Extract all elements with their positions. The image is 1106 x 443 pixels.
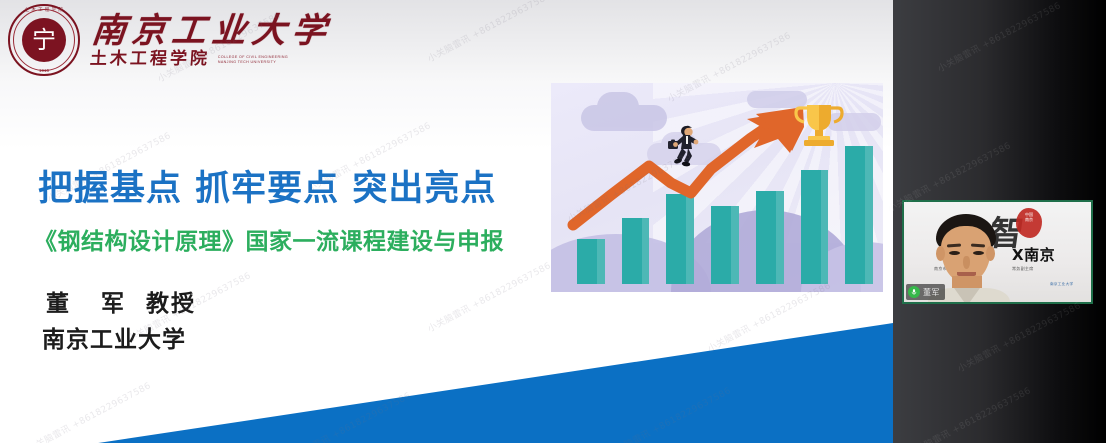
logo-college-name: 土木工程学院 (89, 51, 210, 68)
logo-university-name: 南京工业大学 (90, 14, 334, 50)
participant-video-tile[interactable]: 智 中国 南京 X南京 南京市科协 常务副主席 南京工业大学 (902, 200, 1093, 304)
participant-name-label: 董军 (923, 287, 940, 298)
slide-headline: 把握基点 抓牢要点 突出亮点 (38, 160, 496, 211)
backdrop-brand-text: 南京工业大学 (1050, 282, 1073, 287)
avatar-ear-right (986, 246, 995, 261)
screen-share-stage: 土 木 工 程 学 院 宁 1915 南京工业大学 土木工程学院 COLLEGE… (0, 0, 1106, 443)
avatar-nose (963, 256, 970, 269)
slide-subheadline: 《钢结构设计原理》国家一流课程建设与申报 (34, 222, 504, 256)
seal-glyph-text: 宁 (22, 18, 66, 62)
seal-arc-top-text: 土 木 工 程 学 院 (8, 7, 80, 13)
slide-presenter-org: 南京工业大学 (42, 320, 186, 354)
growth-chart-illustration (551, 83, 883, 292)
businessman-running-icon (659, 125, 703, 169)
backdrop-caption-right: 常务副主席 (1012, 266, 1034, 272)
presentation-slide: 土 木 工 程 学 院 宁 1915 南京工业大学 土木工程学院 COLLEGE… (0, 0, 893, 443)
microphone-icon[interactable] (908, 286, 920, 298)
participant-name-chip: 董军 (906, 284, 945, 300)
gold-trophy-icon (791, 101, 847, 151)
logo-wordmark: 南京工业大学 土木工程学院 COLLEGE OF CIVIL ENGINEERI… (90, 12, 330, 68)
logo-subrow: 土木工程学院 COLLEGE OF CIVIL ENGINEERING NANJ… (89, 51, 330, 68)
avatar-eye-left (949, 251, 960, 255)
university-logo: 土 木 工 程 学 院 宁 1915 南京工业大学 土木工程学院 COLLEGE… (8, 4, 330, 76)
slide-presenter-name: 董 军 教授 (46, 284, 196, 318)
avatar-ear-left (936, 246, 945, 261)
backdrop-title-text: X南京 (1012, 244, 1055, 265)
seal-arc-bottom-text: 1915 (8, 68, 80, 73)
logo-english-name: COLLEGE OF CIVIL ENGINEERING NANJING TEC… (218, 55, 288, 68)
avatar-eye-right (973, 251, 984, 255)
red-seal-text: 中国 南京 (1016, 212, 1042, 222)
university-seal-icon: 土 木 工 程 学 院 宁 1915 (8, 4, 80, 76)
